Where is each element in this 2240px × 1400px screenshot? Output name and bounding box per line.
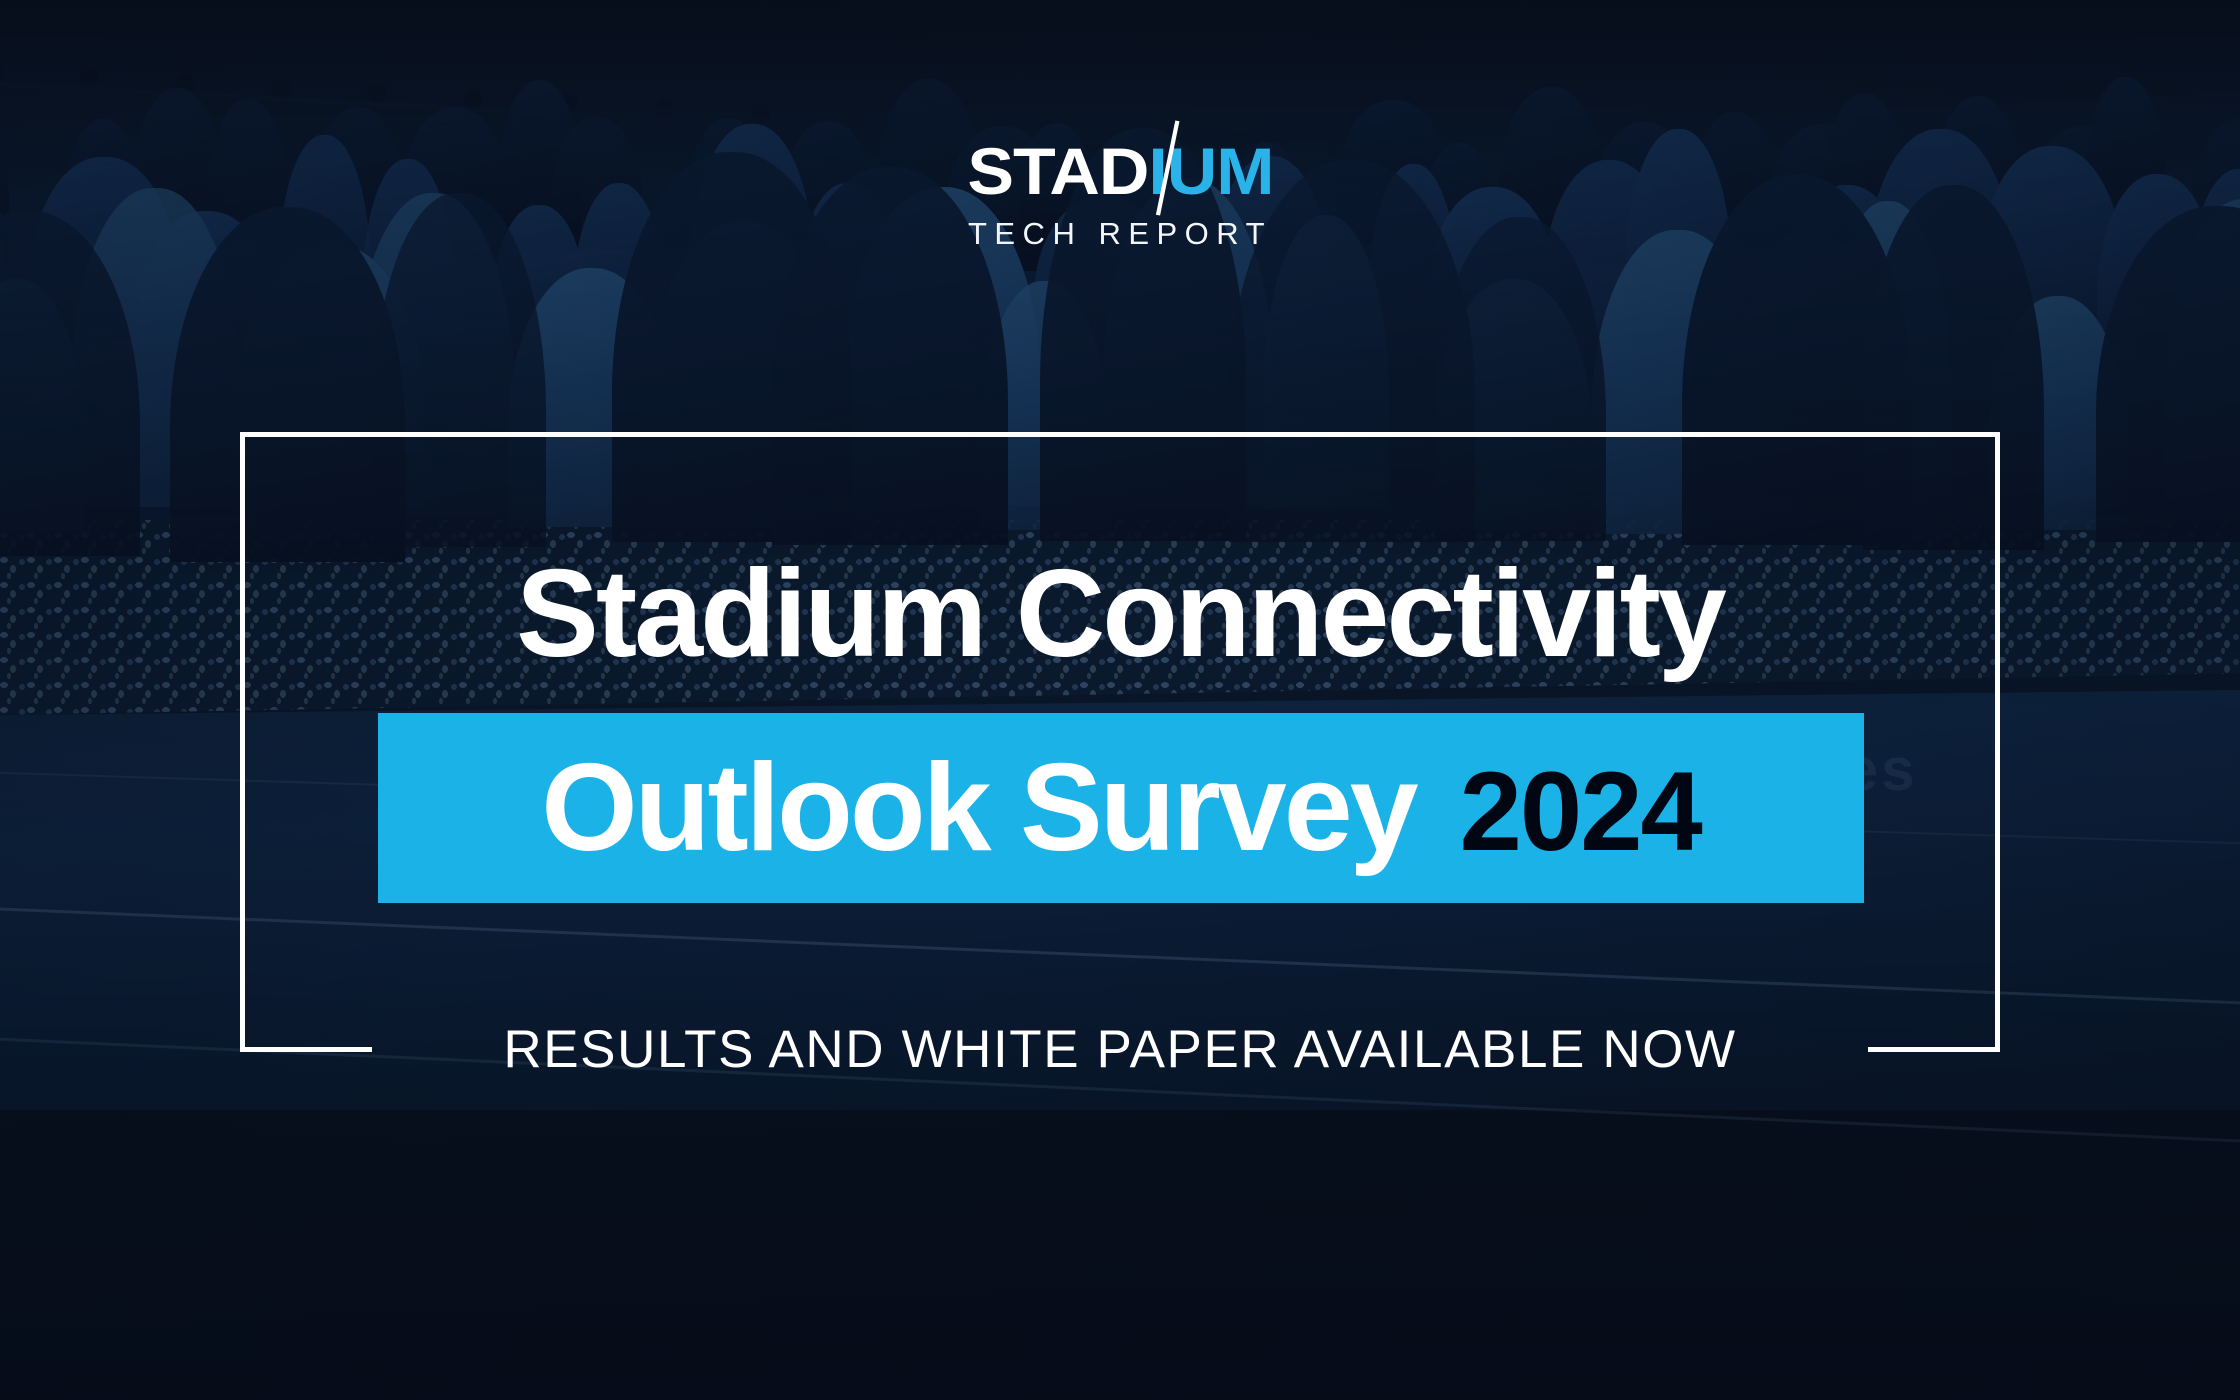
highlight-band: Outlook Survey 2024 (378, 713, 1864, 903)
call-to-action-line: RESULTS AND WHITE PAPER AVAILABLE NOW (0, 1019, 2240, 1080)
logo-wordmark: STADIUM (967, 138, 1273, 204)
hero-content: Stadium Connectivity Outlook Survey 2024… (0, 432, 2240, 676)
band-subtitle: Outlook Survey (541, 746, 1415, 870)
logo-tagline: TECH REPORT (0, 216, 2240, 252)
call-to-action-text: RESULTS AND WHITE PAPER AVAILABLE NOW (477, 1019, 1762, 1080)
logo-word-white: STAD (967, 134, 1148, 208)
band-year: 2024 (1460, 756, 1701, 868)
brand-logo[interactable]: STADIUM TECH REPORT (0, 138, 2240, 252)
page-title: Stadium Connectivity (0, 432, 2240, 676)
highlight-band-inner: Outlook Survey 2024 (541, 746, 1701, 870)
promo-banner: Arsenal.com Emirates STADIUM TECH REPORT… (0, 0, 2240, 1400)
